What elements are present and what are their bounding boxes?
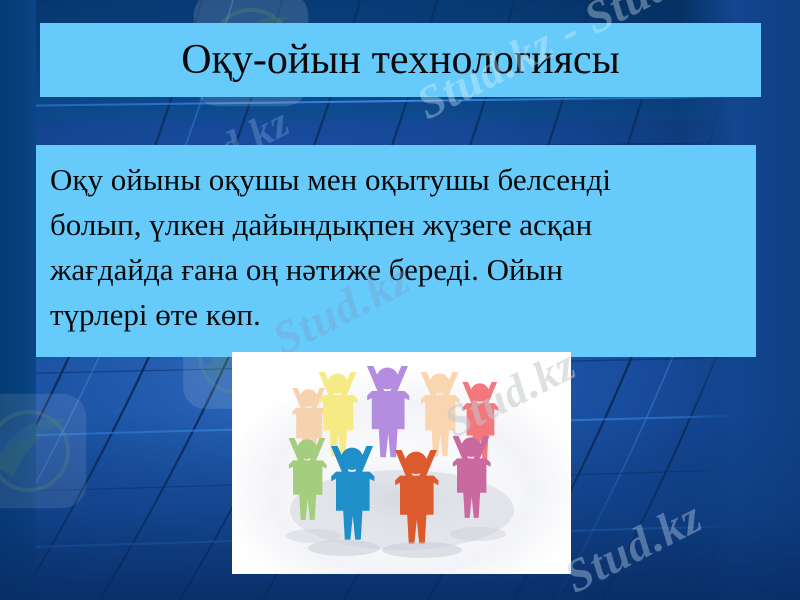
body-line-2: болып, үлкен дайындықпен жүзеге асқан (50, 202, 740, 247)
slide-title-panel: Оқу-ойын технологиясы (40, 23, 761, 97)
paper-people-circle-image (232, 352, 571, 574)
body-line-3: жағдайда ғана оң нәтиже береді. Ойын (50, 247, 740, 292)
body-line-1: Оқу ойыны оқушы мен оқытушы белсенді (50, 157, 740, 202)
slide-body-panel: Оқу ойыны оқушы мен оқытушы белсенді бол… (36, 145, 756, 357)
body-line-4: түрлері өте көп. (50, 292, 740, 337)
paper-people-circle-graphic (232, 352, 571, 574)
slide: Stud.kz Оқу-ойын технологиясы Оқу ойыны … (0, 0, 800, 600)
page-title: Оқу-ойын технологиясы (181, 39, 620, 81)
